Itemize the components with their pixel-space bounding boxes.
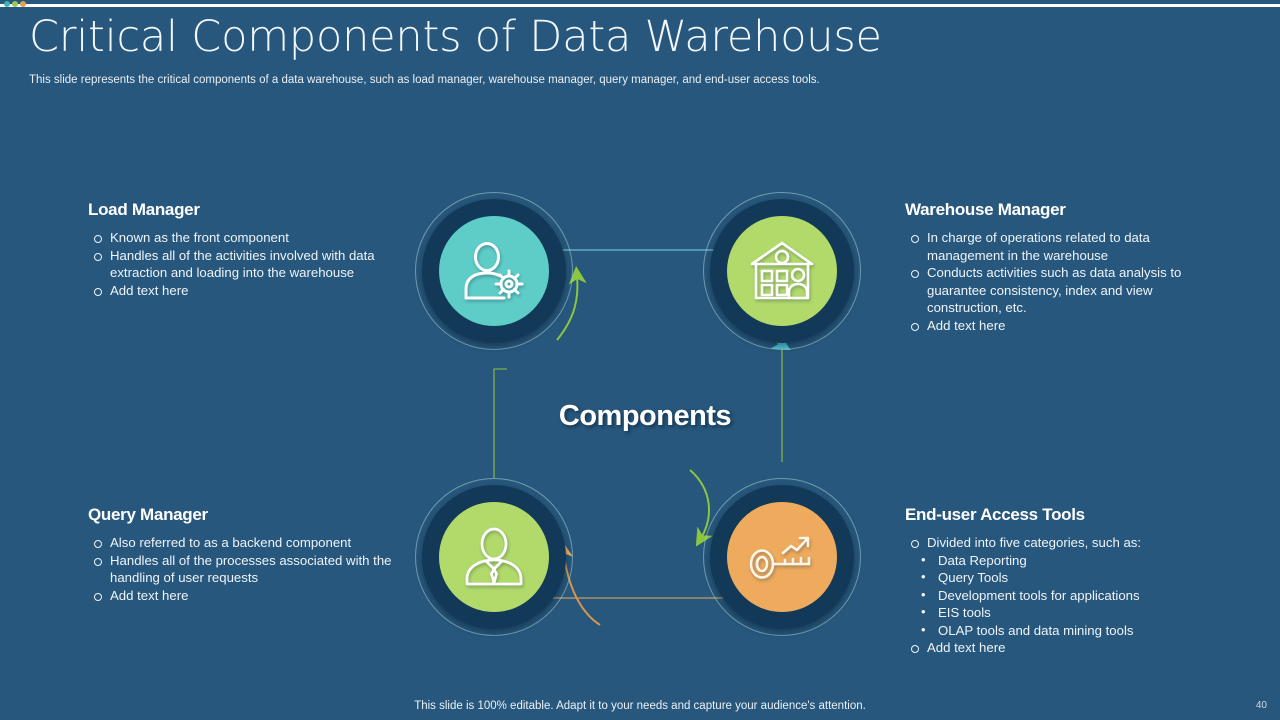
top-accent-dots bbox=[4, 1, 26, 7]
node-query-manager[interactable] bbox=[415, 478, 573, 636]
list-item: Conducts activities such as data analysi… bbox=[905, 264, 1225, 317]
node-disc bbox=[727, 502, 837, 612]
list-item: Also referred to as a backend component bbox=[88, 534, 418, 552]
node-warehouse-manager[interactable] bbox=[703, 192, 861, 350]
node-disc bbox=[439, 502, 549, 612]
list-item: In charge of operations related to data … bbox=[905, 229, 1225, 264]
list-item: Add text here bbox=[905, 317, 1225, 335]
node-disc bbox=[727, 216, 837, 326]
end-user-tools-bullets: Divided into five categories, such as: bbox=[905, 534, 1235, 552]
block-end-user-tools: End-user Access Tools Divided into five … bbox=[905, 505, 1235, 657]
slide-canvas: Critical Components of Data Warehouse Th… bbox=[0, 0, 1280, 720]
end-user-tools-bullets-tail: Add text here bbox=[905, 639, 1235, 657]
list-item: Handles all of the activities involved w… bbox=[88, 247, 418, 282]
block-warehouse-manager: Warehouse Manager In charge of operation… bbox=[905, 200, 1225, 334]
list-item: Development tools for applications bbox=[905, 587, 1235, 605]
dot-green-icon bbox=[12, 1, 18, 7]
list-item: Query Tools bbox=[905, 569, 1235, 587]
top-accent-bar bbox=[0, 4, 1280, 7]
warehouse-icon bbox=[748, 240, 816, 302]
page-title: Critical Components of Data Warehouse bbox=[29, 12, 882, 62]
dot-orange-icon bbox=[20, 1, 26, 7]
list-item: Add text here bbox=[905, 639, 1235, 657]
block-load-manager: Load Manager Known as the front componen… bbox=[88, 200, 418, 299]
footer-note: This slide is 100% editable. Adapt it to… bbox=[0, 700, 1280, 712]
user-gear-icon bbox=[460, 240, 528, 302]
end-user-tools-heading: End-user Access Tools bbox=[905, 505, 1235, 525]
page-number: 40 bbox=[1256, 700, 1267, 711]
list-item: Add text here bbox=[88, 587, 418, 605]
list-item: Divided into five categories, such as: bbox=[905, 534, 1235, 552]
page-subtitle: This slide represents the critical compo… bbox=[29, 74, 820, 86]
key-growth-icon bbox=[747, 531, 817, 583]
end-user-tools-sub-bullets: Data Reporting Query Tools Development t… bbox=[905, 552, 1235, 640]
components-cycle-diagram: Components bbox=[395, 170, 895, 670]
node-load-manager[interactable] bbox=[415, 192, 573, 350]
query-manager-heading: Query Manager bbox=[88, 505, 418, 525]
list-item: Known as the front component bbox=[88, 229, 418, 247]
query-manager-bullets: Also referred to as a backend component … bbox=[88, 534, 418, 604]
warehouse-manager-heading: Warehouse Manager bbox=[905, 200, 1225, 220]
connector-left-line bbox=[494, 369, 507, 478]
node-end-user-tools[interactable] bbox=[703, 478, 861, 636]
block-query-manager: Query Manager Also referred to as a back… bbox=[88, 505, 418, 604]
list-item: Data Reporting bbox=[905, 552, 1235, 570]
dot-teal-icon bbox=[4, 1, 10, 7]
business-user-icon bbox=[462, 526, 526, 588]
load-manager-heading: Load Manager bbox=[88, 200, 418, 220]
list-item: Add text here bbox=[88, 282, 418, 300]
load-manager-bullets: Known as the front component Handles all… bbox=[88, 229, 418, 299]
list-item: EIS tools bbox=[905, 604, 1235, 622]
list-item: Handles all of the processes associated … bbox=[88, 552, 418, 587]
list-item: OLAP tools and data mining tools bbox=[905, 622, 1235, 640]
node-disc bbox=[439, 216, 549, 326]
warehouse-manager-bullets: In charge of operations related to data … bbox=[905, 229, 1225, 334]
